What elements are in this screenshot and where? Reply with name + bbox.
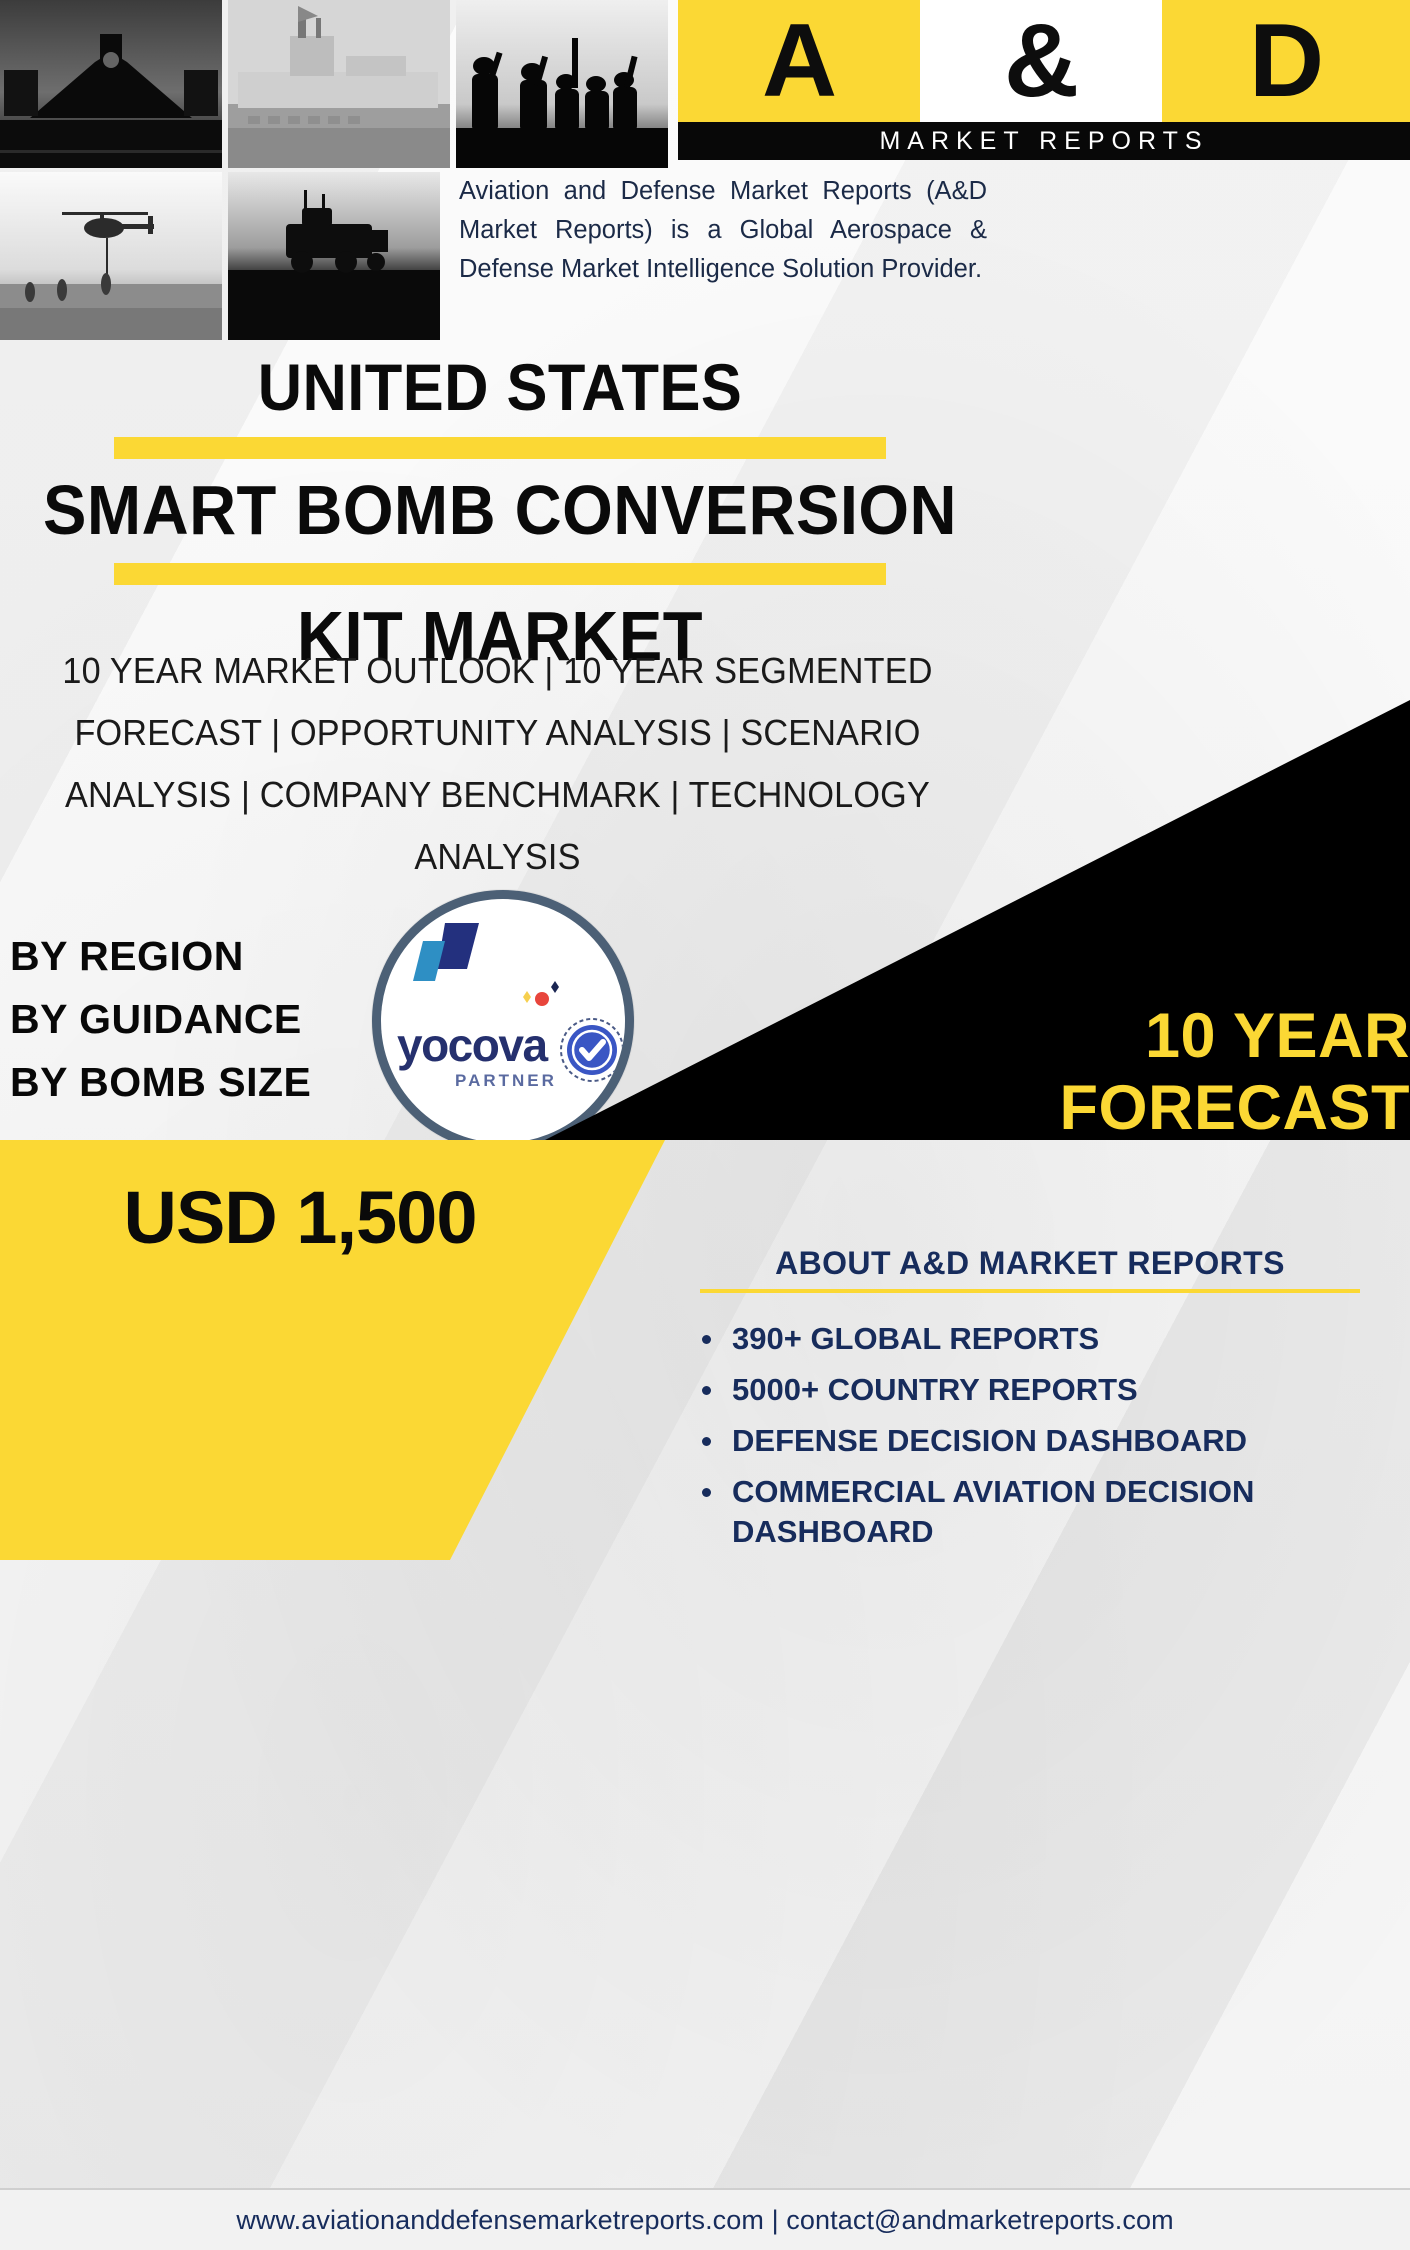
logo-subtitle-bar: MARKET REPORTS — [678, 122, 1410, 160]
logo-subtitle-text: MARKET REPORTS — [879, 127, 1208, 156]
title-divider-top — [114, 437, 886, 459]
check-badge-icon — [559, 1017, 625, 1083]
about-bullet-country-reports: 5000+ COUNTRY REPORTS — [702, 1370, 1400, 1410]
logo-ampersand: & — [920, 0, 1162, 122]
fighter-jet-photo — [0, 0, 222, 168]
forecast-banner: 10 YEAR FORECAST — [890, 1000, 1410, 1144]
about-bullet-commercial-dashboard: COMMERCIAL AVIATION DECISION DASHBOARD — [702, 1472, 1400, 1552]
header-section: A & D MARKET REPORTS Aviation and Defens… — [0, 0, 1410, 345]
yocova-wordmark: yocova — [397, 1022, 565, 1068]
yocova-sparkles-icon — [513, 977, 573, 1017]
poster-page: A & D MARKET REPORTS Aviation and Defens… — [0, 0, 1410, 2250]
ad-market-reports-logo: A & D MARKET REPORTS — [678, 0, 1410, 160]
soldiers-silhouette-photo — [456, 0, 668, 168]
about-underline — [700, 1289, 1360, 1293]
about-bullet-defense-dashboard: DEFENSE DECISION DASHBOARD — [702, 1421, 1400, 1461]
footer-contact-bar: www.aviationanddefensemarketreports.com … — [0, 2188, 1410, 2250]
report-scope-subtitle: 10 YEAR MARKET OUTLOOK | 10 YEAR SEGMENT… — [53, 640, 941, 888]
about-bullet-global-reports: 390+ GLOBAL REPORTS — [702, 1319, 1400, 1359]
logo-letter-a: A — [678, 0, 920, 122]
armored-vehicle-photo — [228, 172, 440, 340]
yocova-chevron-icon — [409, 923, 489, 995]
segmentation-item-bomb-size: BY BOMB SIZE — [10, 1051, 440, 1114]
about-section: ABOUT A&D MARKET REPORTS 390+ GLOBAL REP… — [660, 1245, 1400, 1563]
aircraft-carrier-photo — [228, 0, 450, 168]
footer-contact-text[interactable]: www.aviationanddefensemarketreports.com … — [236, 2205, 1173, 2236]
yocova-tier-label: PARTNER — [455, 1071, 575, 1091]
segmentation-item-region: BY REGION — [10, 925, 440, 988]
helicopter-photo — [0, 172, 222, 340]
logo-letters-row: A & D — [678, 0, 1410, 122]
title-line-main: SMART BOMB CONVERSION — [35, 473, 965, 549]
forecast-line-1: 10 YEAR — [890, 1000, 1410, 1072]
yocova-partner-badge: yocova PARTNER — [372, 890, 634, 1152]
logo-letter-d: D — [1162, 0, 1410, 122]
title-divider-bottom — [114, 563, 886, 585]
price-label: USD 1,500 — [0, 1175, 600, 1260]
about-heading: ABOUT A&D MARKET REPORTS — [660, 1245, 1400, 1282]
report-title-block: UNITED STATES SMART BOMB CONVERSION KIT … — [0, 352, 1000, 674]
forecast-line-2: FORECAST — [890, 1072, 1410, 1144]
company-description: Aviation and Defense Market Reports (A&D… — [459, 172, 987, 289]
title-line-country: UNITED STATES — [35, 352, 965, 423]
about-bullet-list: 390+ GLOBAL REPORTS 5000+ COUNTRY REPORT… — [660, 1319, 1400, 1552]
